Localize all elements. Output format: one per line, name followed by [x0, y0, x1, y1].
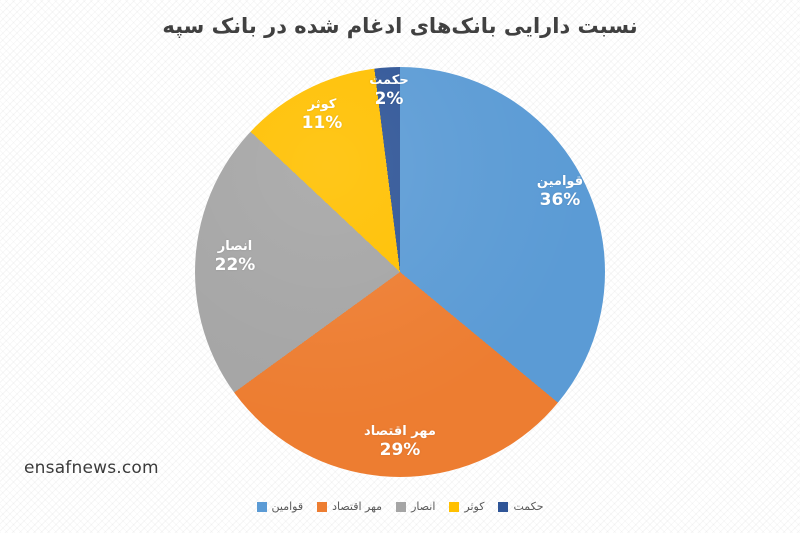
legend-swatch-icon	[498, 502, 508, 512]
pie-slice-label-ansar: انصار 22%	[180, 240, 290, 275]
slice-name-hekmat: حکمت	[352, 74, 426, 89]
legend-item[interactable]: حکمت	[498, 500, 543, 513]
legend-label: حکمت	[513, 500, 543, 513]
legend-swatch-icon	[257, 502, 267, 512]
slice-name-mehr-eghtesad: مهر اقتصاد	[330, 425, 470, 440]
legend-item[interactable]: انصار	[396, 500, 435, 513]
legend-label: مهر اقتصاد	[332, 500, 382, 513]
slice-name-ghavamin: قوامین	[505, 175, 615, 190]
chart-title: نسبت دارایی بانک‌های ادغام شده در بانک س…	[0, 14, 800, 38]
legend-label: کوثر	[464, 500, 484, 513]
legend-swatch-icon	[396, 502, 406, 512]
legend-label: انصار	[411, 500, 435, 513]
slice-value-kowsar: 11%	[274, 114, 370, 133]
pie-slice-label-hekmat: حکمت 2%	[352, 74, 426, 109]
chart-legend: قوامینمهر اقتصادانصارکوثرحکمت	[0, 500, 800, 513]
slice-value-ghavamin: 36%	[505, 191, 615, 210]
legend-label: قوامین	[272, 500, 304, 513]
pie-slice-label-mehr-eghtesad: مهر اقتصاد 29%	[330, 425, 470, 460]
slice-value-mehr-eghtesad: 29%	[330, 441, 470, 460]
legend-item[interactable]: مهر اقتصاد	[317, 500, 382, 513]
slice-value-ansar: 22%	[180, 256, 290, 275]
legend-item[interactable]: کوثر	[449, 500, 484, 513]
legend-item[interactable]: قوامین	[257, 500, 304, 513]
slice-name-ansar: انصار	[180, 240, 290, 255]
slice-value-hekmat: 2%	[352, 90, 426, 109]
pie-chart-figure: نسبت دارایی بانک‌های ادغام شده در بانک س…	[0, 0, 800, 533]
site-watermark: ensafnews.com	[24, 458, 159, 478]
pie-slice-label-ghavamin: قوامین 36%	[505, 175, 615, 210]
legend-swatch-icon	[449, 502, 459, 512]
legend-swatch-icon	[317, 502, 327, 512]
